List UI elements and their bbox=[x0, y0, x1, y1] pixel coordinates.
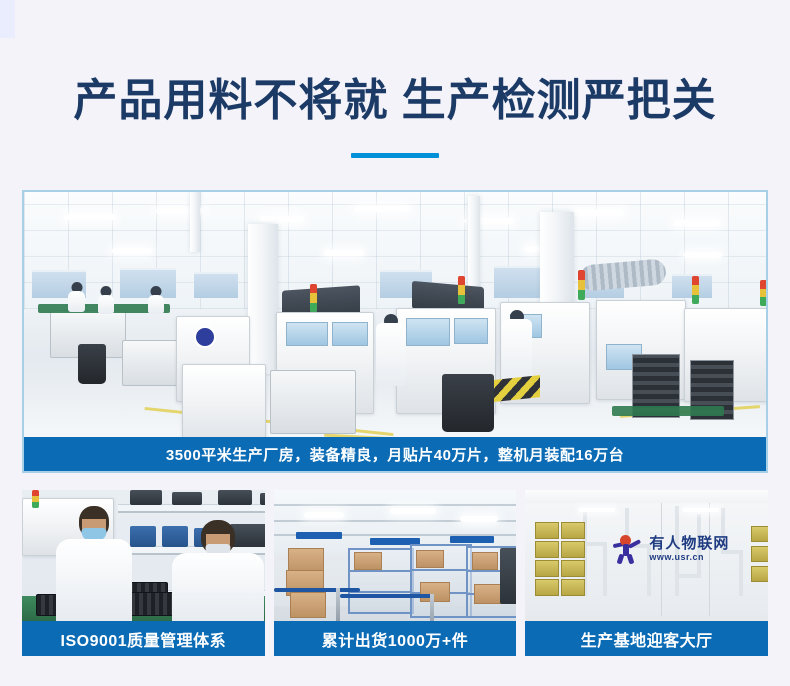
award-plaque bbox=[751, 526, 768, 542]
machine-screen bbox=[286, 322, 328, 346]
award-plaque bbox=[751, 546, 768, 562]
carton-box bbox=[416, 550, 444, 568]
signal-tower-light bbox=[32, 490, 39, 508]
aisle-sign bbox=[450, 536, 494, 543]
brand-url: www.usr.cn bbox=[649, 553, 729, 562]
award-plaque bbox=[535, 579, 559, 596]
storage-bin bbox=[130, 526, 156, 547]
award-plaque bbox=[561, 579, 585, 596]
usr-mascot-icon bbox=[613, 534, 643, 564]
signal-tower-light bbox=[692, 276, 699, 304]
inspector-worker bbox=[56, 506, 132, 624]
signal-tower-light bbox=[310, 284, 317, 312]
ceiling-lamp bbox=[64, 214, 116, 220]
safety-sign bbox=[194, 326, 216, 348]
hero-photo-card[interactable]: 3500平米生产厂房，装备精良，月贴片40万片，整机月装配16万台 bbox=[22, 190, 768, 473]
machine-screen bbox=[454, 318, 488, 344]
circuit-line bbox=[603, 542, 607, 596]
card-lobby[interactable]: 有人物联网 www.usr.cn 生产基地迎客大厅 bbox=[525, 490, 768, 656]
ceiling-lamp bbox=[324, 250, 364, 256]
award-plaque bbox=[561, 541, 585, 558]
award-plaque bbox=[535, 522, 559, 539]
inspector-worker bbox=[172, 520, 264, 624]
award-plaque bbox=[561, 522, 585, 539]
machine-screen bbox=[406, 318, 450, 346]
company-logo: 有人物联网 www.usr.cn bbox=[613, 534, 729, 564]
bottom-card-row: ISO9001质量管理体系 bbox=[22, 490, 768, 656]
carton-box bbox=[420, 582, 450, 602]
aisle-sign bbox=[296, 532, 342, 539]
award-plaque bbox=[535, 560, 559, 577]
circuit-line bbox=[739, 550, 743, 596]
trolley bbox=[270, 370, 356, 434]
circuit-line bbox=[675, 574, 699, 578]
storage-box bbox=[218, 490, 252, 505]
heading-block: 产品用料不将就 生产检测严把关 bbox=[0, 72, 790, 158]
worker bbox=[502, 310, 532, 384]
storage-box bbox=[260, 493, 265, 505]
card-iso9001[interactable]: ISO9001质量管理体系 bbox=[22, 490, 265, 656]
ceiling-lamp bbox=[354, 206, 410, 212]
award-plaque bbox=[535, 541, 559, 558]
ceiling-lamp bbox=[684, 252, 722, 258]
logo-text: 有人物联网 www.usr.cn bbox=[649, 536, 729, 562]
ceiling-beam bbox=[274, 504, 517, 506]
hero-caption: 3500平米生产厂房，装备精良，月贴片40万片，整机月装配16万台 bbox=[24, 437, 766, 471]
pillar bbox=[190, 192, 200, 252]
warehouse-lamp bbox=[460, 516, 498, 522]
brand-name-cn: 有人物联网 bbox=[649, 536, 729, 551]
card-shipments[interactable]: 累计出货1000万+件 bbox=[274, 490, 517, 656]
pillar bbox=[248, 224, 278, 374]
signal-tower-light bbox=[578, 270, 585, 300]
queue-belt bbox=[340, 594, 434, 598]
carton-box bbox=[354, 552, 382, 570]
worker bbox=[98, 286, 114, 314]
waste-bin bbox=[442, 374, 494, 432]
page-root: 产品用料不将就 生产检测严把关 bbox=[0, 0, 790, 686]
ceiling-lamp bbox=[112, 248, 152, 254]
carton-box bbox=[290, 592, 326, 618]
smt-machine bbox=[182, 364, 266, 444]
worker bbox=[68, 282, 85, 312]
ceiling-lamp bbox=[260, 216, 304, 222]
stacked-goods bbox=[500, 548, 517, 604]
award-plaque bbox=[751, 566, 768, 582]
carton-box bbox=[474, 584, 502, 604]
window-blind bbox=[194, 272, 238, 298]
card-caption: 生产基地迎客大厅 bbox=[525, 621, 768, 656]
carton-box bbox=[472, 552, 498, 570]
ceiling-lamp bbox=[572, 210, 624, 216]
ceiling-tube-light bbox=[683, 508, 719, 512]
ceiling-lamp bbox=[674, 220, 720, 226]
edge-tint bbox=[0, 0, 15, 38]
signal-tower-light bbox=[458, 276, 465, 304]
shelf bbox=[118, 504, 265, 513]
warehouse-lamp bbox=[304, 512, 344, 518]
ceiling-tube-light bbox=[579, 508, 615, 512]
queue-belt bbox=[274, 588, 360, 592]
page-title: 产品用料不将就 生产检测严把关 bbox=[0, 72, 790, 130]
factory-floor-illustration bbox=[24, 192, 766, 471]
worker bbox=[148, 286, 164, 314]
card-caption: ISO9001质量管理体系 bbox=[22, 621, 265, 656]
trolley bbox=[122, 340, 178, 386]
storage-box bbox=[172, 492, 202, 505]
storage-box bbox=[130, 490, 162, 505]
workbench-surface bbox=[612, 406, 724, 416]
worker bbox=[376, 314, 406, 386]
circuit-line bbox=[583, 542, 605, 546]
warehouse-lamp bbox=[390, 508, 436, 514]
card-caption: 累计出货1000万+件 bbox=[274, 621, 517, 656]
waste-bin bbox=[78, 344, 106, 384]
award-plaque bbox=[561, 560, 585, 577]
title-underline-accent bbox=[351, 153, 439, 158]
machine-screen bbox=[332, 322, 368, 346]
signal-tower-light bbox=[760, 280, 767, 306]
